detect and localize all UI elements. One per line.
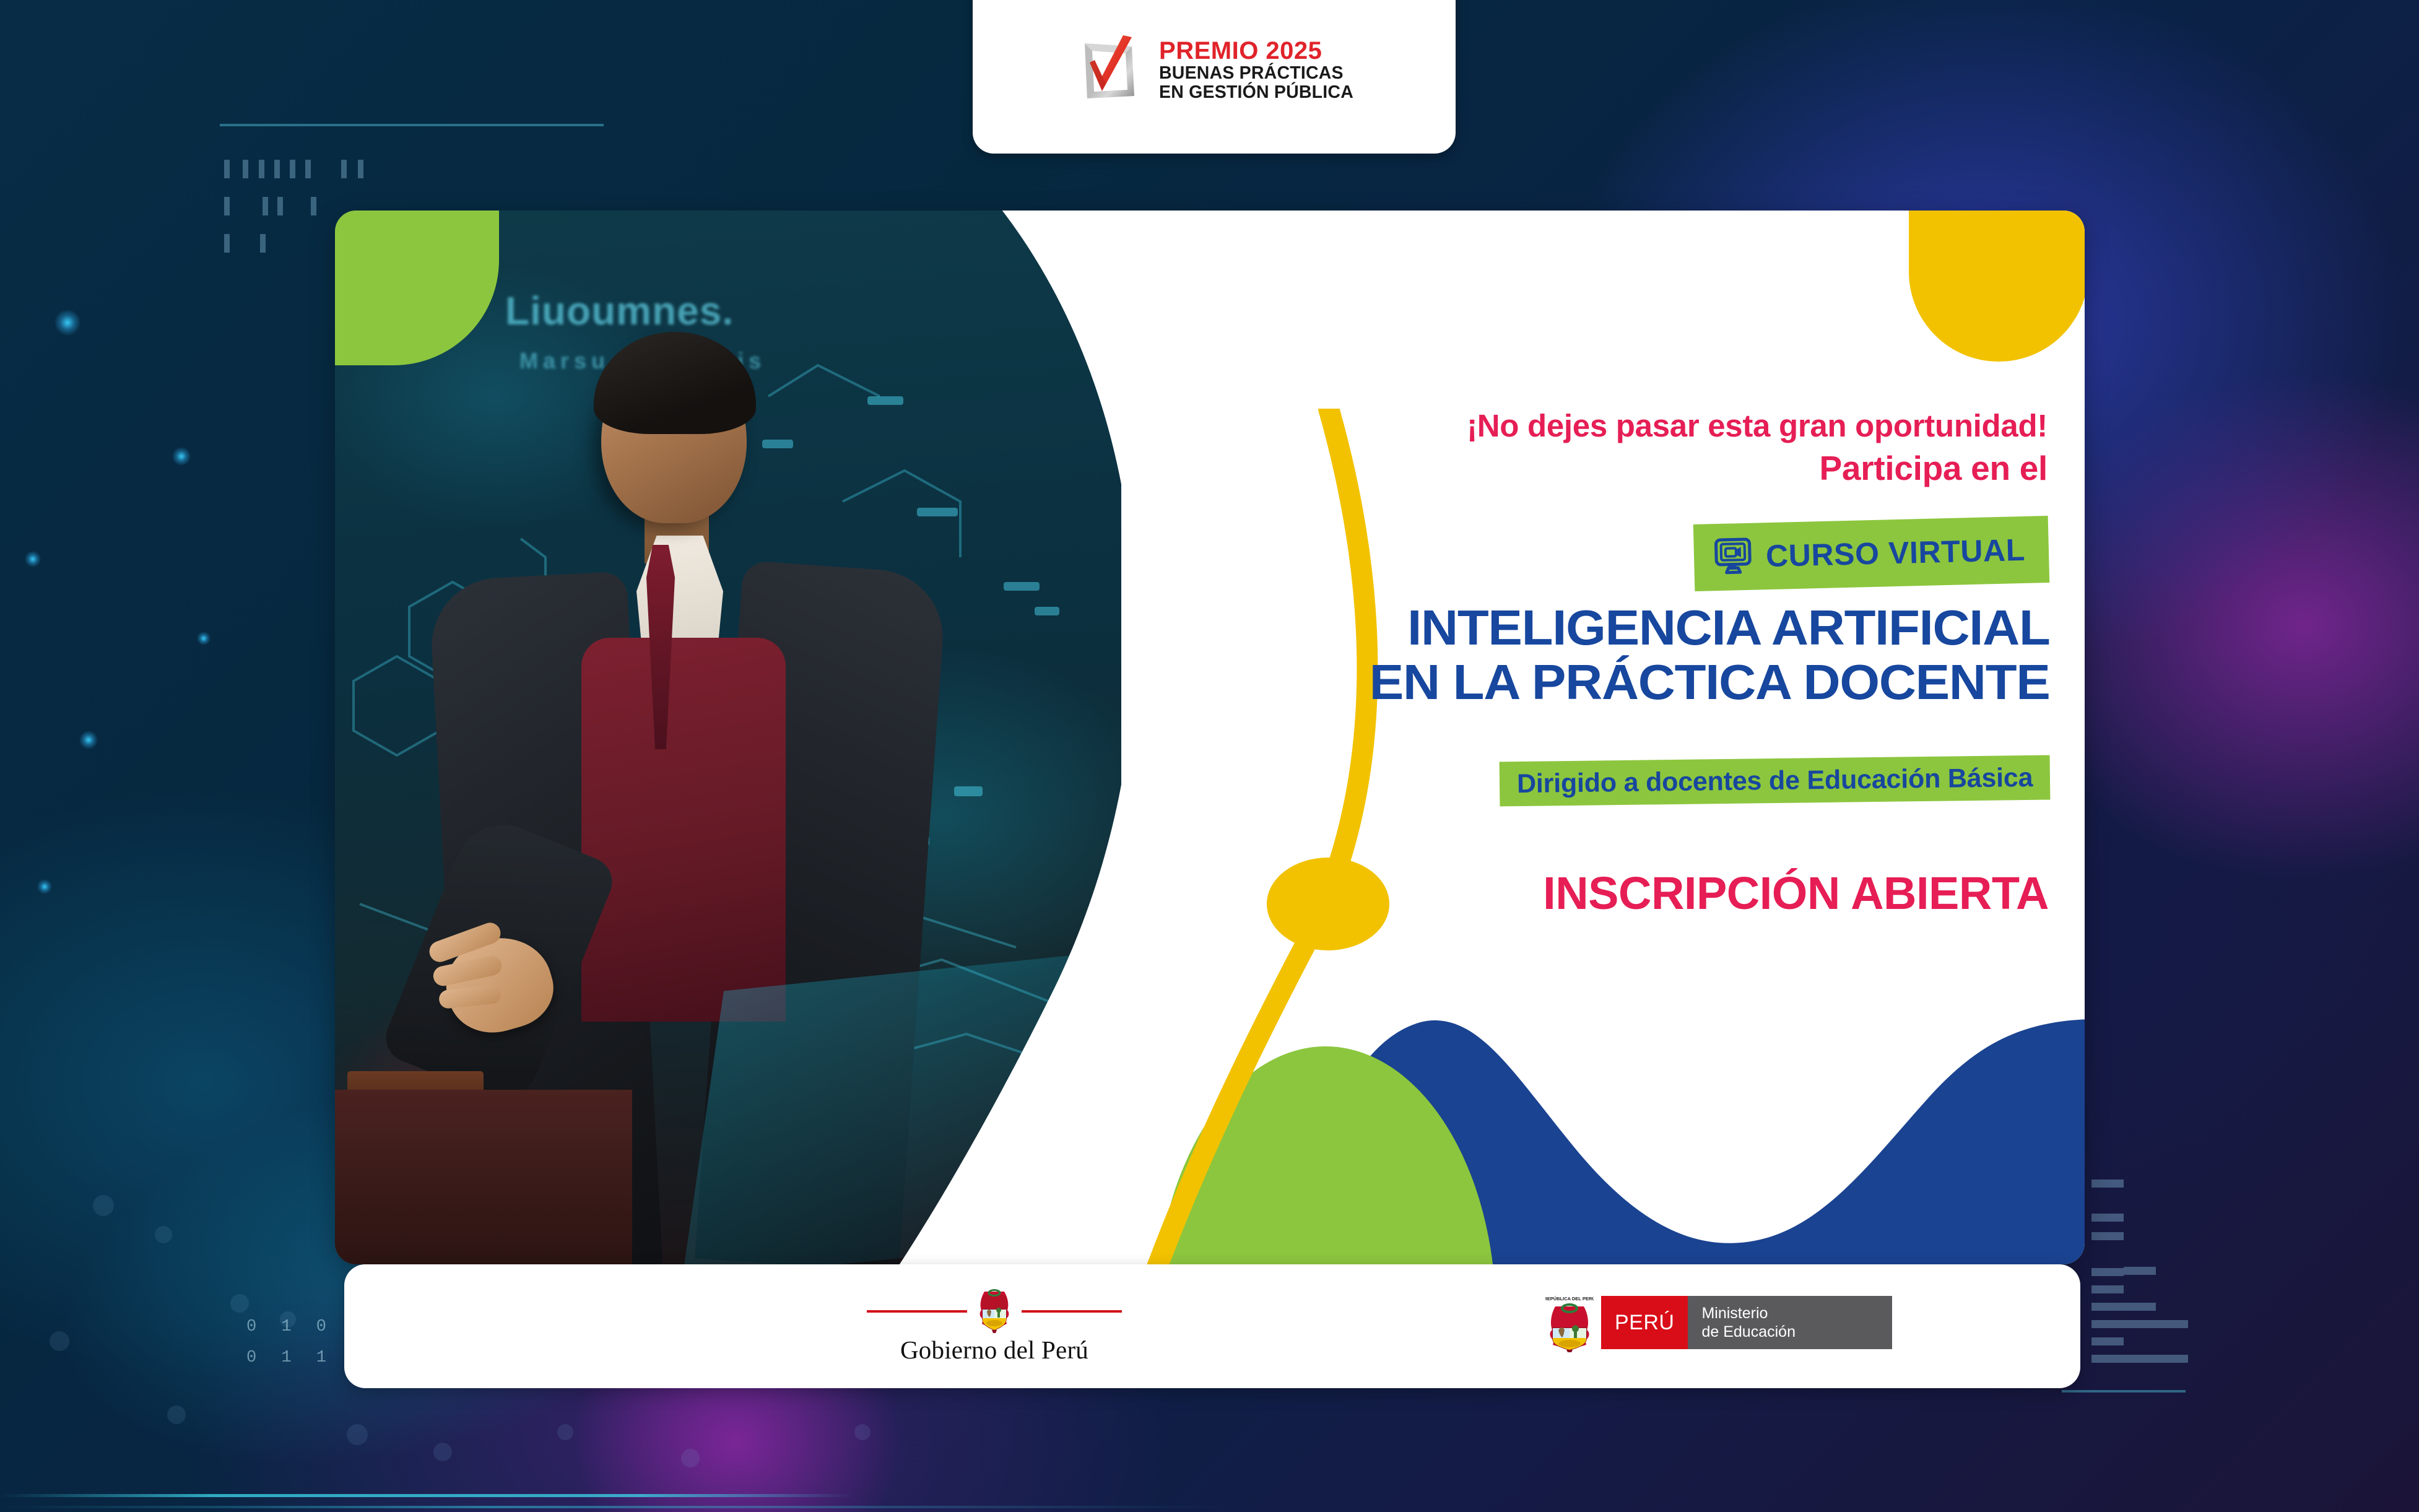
background-cyan-line (0, 1494, 854, 1497)
checkbox-check-icon (1075, 34, 1145, 107)
video-monitor-icon (1712, 536, 1754, 578)
award-year: PREMIO 2025 (1159, 38, 1353, 64)
course-title-line-1: INTELIGENCIA ARTIFICIAL (1370, 601, 2050, 655)
award-badge: PREMIO 2025 BUENAS PRÁCTICAS EN GESTIÓN … (973, 0, 1456, 154)
curso-virtual-badge: CURSO VIRTUAL (1693, 516, 2049, 591)
award-badge-text: PREMIO 2025 BUENAS PRÁCTICAS EN GESTIÓN … (1159, 38, 1353, 102)
gobierno-logo-row (867, 1289, 1122, 1334)
minedu-ministry-block: Ministerio de Educación (1688, 1296, 1892, 1349)
peru-coat-of-arms-icon: REPÚBLICA DEL PERÚ (1545, 1293, 1594, 1352)
content-column: ¡No dejes pasar esta gran oportunidad! P… (1350, 211, 2085, 1264)
kicker-line-1: ¡No dejes pasar esta gran oportunidad! (1467, 407, 2048, 445)
main-card: Liuoumnes. Marsu Simj Suis (335, 211, 2085, 1264)
peru-coat-of-arms-icon (977, 1289, 1012, 1334)
minedu-ministry-line-1: Ministerio (1701, 1304, 1876, 1323)
minedu-country-label: PERÚ (1601, 1296, 1688, 1349)
footer-panel: Gobierno del Perú REPÚBLICA DEL PERÚ (344, 1264, 2080, 1388)
minedu-ministry-line-2: de Educación (1701, 1323, 1876, 1342)
kicker-block: ¡No dejes pasar esta gran oportunidad! P… (1467, 407, 2048, 489)
curso-virtual-label: CURSO VIRTUAL (1765, 532, 2025, 574)
course-title-line-2: EN LA PRÁCTICA DOCENTE (1370, 655, 2050, 710)
teacher-vest (581, 638, 786, 1022)
kicker-line-2: Participa en el (1467, 448, 2048, 489)
enrollment-status: INSCRIPCIÓN ABIERTA (1543, 867, 2049, 919)
background-cyan-line-secondary (0, 1506, 1226, 1508)
gobierno-label: Gobierno del Perú (900, 1335, 1088, 1365)
audience-band: Dirigido a docentes de Educación Básica (1499, 755, 2050, 807)
photo-board-text-1: Liuoumnes. (505, 288, 734, 334)
award-line-2: BUENAS PRÁCTICAS (1159, 64, 1353, 83)
yellow-accent-curve (979, 409, 1412, 1264)
teacher-desk (335, 1090, 632, 1264)
minedu-logo: REPÚBLICA DEL PERÚ PERÚ Ministerio (1545, 1293, 1892, 1352)
gobierno-rule-right (1022, 1310, 1122, 1313)
svg-text:REPÚBLICA DEL PERÚ: REPÚBLICA DEL PERÚ (1545, 1296, 1594, 1301)
poster-canvas: 0 1 0 0 1 0 1 1 1 0 (0, 0, 2419, 1512)
gobierno-rule-left (867, 1310, 967, 1313)
audience-label: Dirigido a docentes de Educación Básica (1516, 762, 2033, 799)
gobierno-del-peru-logo: Gobierno del Perú (821, 1289, 1168, 1366)
course-title: INTELIGENCIA ARTIFICIAL EN LA PRÁCTICA D… (1396, 601, 2050, 710)
award-line-3: EN GESTIÓN PÚBLICA (1159, 83, 1353, 102)
